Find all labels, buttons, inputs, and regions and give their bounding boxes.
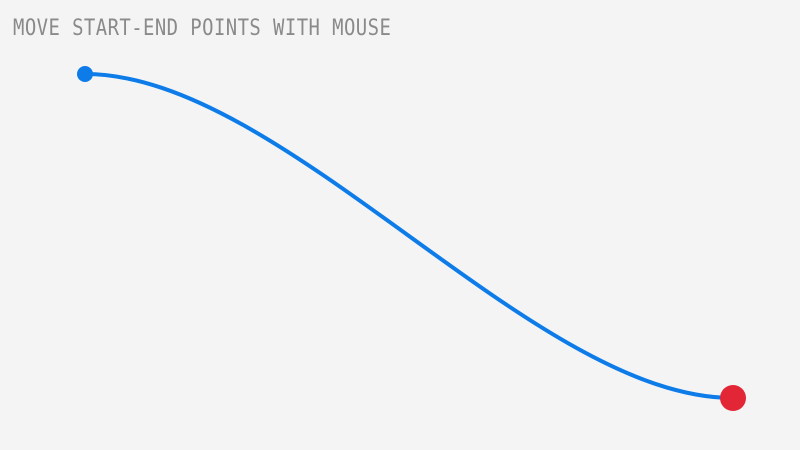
bezier-curve-path [85, 74, 733, 398]
end-point-handle[interactable] [720, 385, 746, 411]
curve-stage [0, 0, 800, 450]
start-point-handle[interactable] [77, 66, 93, 82]
drawing-canvas[interactable]: MOVE START-END POINTS WITH MOUSE [0, 0, 800, 450]
page-title: MOVE START-END POINTS WITH MOUSE [13, 16, 391, 42]
